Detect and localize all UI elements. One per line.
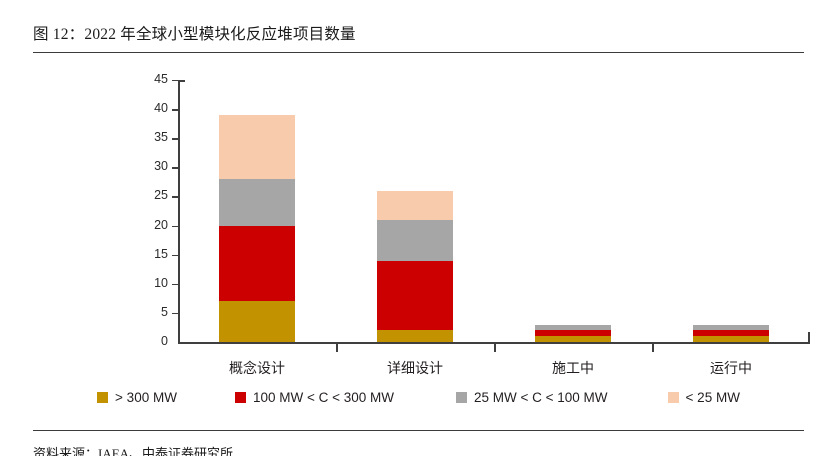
y-axis-tick-mark (172, 167, 178, 168)
y-axis-tick-label: 45 (154, 72, 168, 86)
y-axis-tick-mark (172, 80, 178, 81)
legend-swatch (668, 392, 679, 403)
y-axis-tick-label: 10 (154, 276, 168, 290)
legend-swatch (456, 392, 467, 403)
bar-segment[interactable] (219, 301, 295, 342)
footer-divider (33, 430, 804, 431)
x-axis-tick-mark (652, 342, 654, 352)
y-axis-tick-mark (172, 109, 178, 110)
bar-stack[interactable] (693, 325, 769, 342)
x-axis-category-label: 概念设计 (178, 358, 336, 378)
y-axis-tick-mark (172, 226, 178, 227)
legend-label: 25 MW < C < 100 MW (474, 390, 608, 405)
bar-segment[interactable] (219, 179, 295, 226)
title-divider-top (33, 52, 804, 53)
bar-stack[interactable] (535, 325, 611, 342)
legend-item[interactable]: 100 MW < C < 300 MW (235, 390, 394, 405)
legend-label: < 25 MW (686, 390, 740, 405)
legend-swatch (97, 392, 108, 403)
y-axis-tick-label: 35 (154, 130, 168, 144)
x-axis-tick-mark (494, 342, 496, 352)
legend-item[interactable]: > 300 MW (97, 390, 177, 405)
bar-segment[interactable] (377, 220, 453, 261)
y-axis-tick-mark (172, 255, 178, 256)
chart-canvas: 051015202530354045概念设计详细设计施工中运行中 > 300 M… (0, 60, 837, 420)
y-axis-tick-label: 20 (154, 218, 168, 232)
bar-segment[interactable] (219, 226, 295, 302)
legend-label: > 300 MW (115, 390, 177, 405)
legend-label: 100 MW < C < 300 MW (253, 390, 394, 405)
plot-area: 051015202530354045概念设计详细设计施工中运行中 (178, 80, 810, 342)
legend-item[interactable]: 25 MW < C < 100 MW (456, 390, 608, 405)
x-axis-category-label: 运行中 (652, 358, 810, 378)
bar-segment[interactable] (535, 336, 611, 342)
legend-swatch (235, 392, 246, 403)
bar-stack[interactable] (219, 115, 295, 342)
bar-segment[interactable] (219, 115, 295, 179)
chart-legend: > 300 MW100 MW < C < 300 MW25 MW < C < 1… (0, 390, 837, 405)
figure-page: 图 12：2022 年全球小型模块化反应堆项目数量 05101520253035… (0, 0, 837, 456)
y-axis-top-cap (178, 80, 185, 82)
y-axis-tick-mark (172, 284, 178, 285)
y-axis-tick-label: 30 (154, 159, 168, 173)
bar-segment[interactable] (377, 330, 453, 342)
bar-segment[interactable] (693, 336, 769, 342)
y-axis-tick-mark (172, 196, 178, 197)
y-axis-line (178, 80, 180, 342)
x-axis-tick-mark (336, 342, 338, 352)
y-axis-tick-label: 0 (161, 334, 168, 348)
x-axis-end-cap (808, 332, 810, 343)
y-axis-tick-mark (172, 138, 178, 139)
bar-stack[interactable] (377, 191, 453, 342)
y-axis-tick-mark (172, 313, 178, 314)
source-note: 资料来源：IAEA、中泰证券研究所 (33, 443, 233, 456)
x-axis-category-label: 详细设计 (336, 358, 494, 378)
figure-title: 图 12：2022 年全球小型模块化反应堆项目数量 (33, 22, 356, 44)
bar-segment[interactable] (377, 261, 453, 331)
y-axis-tick-label: 25 (154, 188, 168, 202)
y-axis-tick-label: 40 (154, 101, 168, 115)
x-axis-category-label: 施工中 (494, 358, 652, 378)
legend-item[interactable]: < 25 MW (668, 390, 740, 405)
y-axis-tick-label: 5 (161, 305, 168, 319)
y-axis-tick-label: 15 (154, 247, 168, 261)
bar-segment[interactable] (377, 191, 453, 220)
